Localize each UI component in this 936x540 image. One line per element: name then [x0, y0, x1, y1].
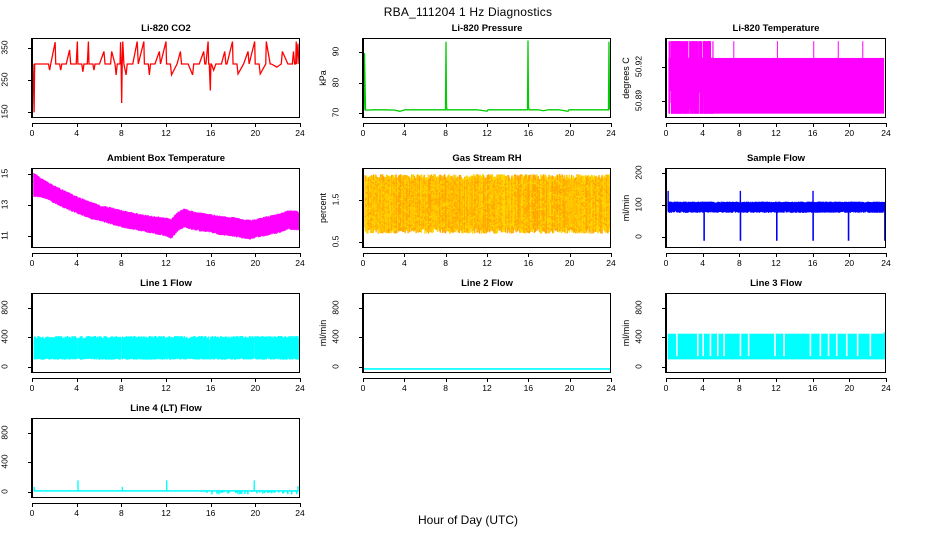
- plot-area: [363, 168, 611, 248]
- y-tick: [359, 200, 363, 201]
- x-tick-label: 0: [20, 258, 44, 268]
- x-tick-label: 12: [154, 383, 178, 393]
- x-tick: [32, 123, 33, 127]
- y-tick-label: 50.92: [635, 49, 644, 83]
- x-tick: [886, 378, 887, 382]
- x-tick: [77, 253, 78, 257]
- panel-title: Li-820 Pressure: [363, 23, 611, 35]
- x-tick: [813, 253, 814, 257]
- x-tick: [77, 123, 78, 127]
- x-tick-label: 16: [199, 258, 223, 268]
- figure-title: RBA_111204 1 Hz Diagnostics: [0, 4, 936, 20]
- y-axis: 50.8950.92: [654, 38, 666, 118]
- x-tick-label: 16: [801, 258, 825, 268]
- plot-area: [666, 38, 886, 118]
- series-layer: [33, 39, 299, 117]
- plot-area: [32, 38, 300, 118]
- x-tick-label: 8: [109, 258, 133, 268]
- y-axis: 0400800: [654, 293, 666, 373]
- y-axis-label: ml/min: [621, 153, 631, 263]
- plot-area: [363, 293, 611, 373]
- x-tick-label: 24: [288, 383, 312, 393]
- plot-area: [32, 168, 300, 248]
- y-axis-label: ml/min: [318, 278, 328, 388]
- y-tick-label: 0: [332, 350, 341, 384]
- x-tick: [166, 123, 167, 127]
- x-tick: [776, 253, 777, 257]
- panel-1: Li-820 CO2150250350Licor ppm04812162024: [0, 22, 306, 136]
- x-tick: [487, 253, 488, 257]
- x-tick-label: 24: [874, 128, 898, 138]
- plot-area: [32, 418, 300, 498]
- y-tick: [359, 242, 363, 243]
- x-tick-label: 16: [199, 383, 223, 393]
- y-tick-label: 50.89: [635, 83, 644, 117]
- x-tick: [703, 378, 704, 382]
- x-tick: [570, 123, 571, 127]
- y-tick: [28, 48, 32, 49]
- x-tick-label: 8: [109, 128, 133, 138]
- panel-title: Line 4 (LT) Flow: [32, 403, 300, 415]
- x-tick-label: 8: [727, 258, 751, 268]
- x-tick: [813, 123, 814, 127]
- x-tick: [404, 253, 405, 257]
- x-tick-label: 24: [288, 508, 312, 518]
- y-axis: 150250350: [20, 38, 32, 118]
- y-tick: [662, 205, 666, 206]
- x-tick: [849, 378, 850, 382]
- y-tick: [359, 308, 363, 309]
- plot-area: [363, 38, 611, 118]
- y-tick-label: 15: [1, 157, 10, 191]
- x-tick: [121, 503, 122, 507]
- y-tick-label: 400: [635, 320, 644, 354]
- series-layer: [667, 39, 885, 117]
- x-tick-label: 20: [243, 258, 267, 268]
- y-tick-label: 400: [332, 320, 341, 354]
- y-axis: 708090: [351, 38, 363, 118]
- plot-area: [666, 293, 886, 373]
- x-tick-label: 4: [65, 128, 89, 138]
- x-tick: [300, 503, 301, 507]
- x-tick: [776, 378, 777, 382]
- x-tick-label: 12: [475, 258, 499, 268]
- x-tick: [166, 503, 167, 507]
- y-tick: [662, 308, 666, 309]
- x-tick: [570, 378, 571, 382]
- x-tick: [611, 378, 612, 382]
- x-tick: [849, 253, 850, 257]
- y-axis: 111315: [20, 168, 32, 248]
- y-tick-label: 0: [635, 219, 644, 253]
- y-tick: [28, 174, 32, 175]
- x-tick: [739, 253, 740, 257]
- x-tick-label: 20: [837, 128, 861, 138]
- x-tick-label: 12: [475, 128, 499, 138]
- y-tick: [662, 173, 666, 174]
- panel-8: Line 2 Flow0400800ml/min04812162024: [317, 277, 617, 391]
- y-tick-label: 80: [332, 65, 341, 99]
- x-tick-label: 20: [558, 258, 582, 268]
- series-layer: [364, 39, 610, 117]
- y-tick-label: 1.5: [332, 182, 341, 216]
- x-tick: [611, 123, 612, 127]
- y-axis: 0100200: [654, 168, 666, 248]
- x-tick-label: 12: [764, 383, 788, 393]
- x-tick: [363, 253, 364, 257]
- x-tick-label: 16: [801, 383, 825, 393]
- x-tick-label: 0: [351, 383, 375, 393]
- x-tick-label: 16: [516, 258, 540, 268]
- diagnostics-figure: RBA_111204 1 Hz Diagnostics Hour of Day …: [0, 0, 936, 540]
- x-tick: [363, 123, 364, 127]
- x-tick: [32, 503, 33, 507]
- y-tick: [359, 83, 363, 84]
- x-tick-label: 8: [434, 258, 458, 268]
- x-tick-label: 20: [243, 383, 267, 393]
- y-axis-label: kPa: [318, 23, 328, 133]
- x-tick: [666, 378, 667, 382]
- y-axis: 0.51.5: [351, 168, 363, 248]
- x-tick-label: 24: [288, 128, 312, 138]
- x-tick-label: 12: [764, 258, 788, 268]
- x-tick-label: 4: [65, 508, 89, 518]
- x-tick: [611, 253, 612, 257]
- x-tick-label: 4: [392, 383, 416, 393]
- x-tick-label: 8: [727, 383, 751, 393]
- x-tick: [528, 123, 529, 127]
- y-tick-label: 200: [635, 155, 644, 189]
- panel-5: Gas Stream RH0.51.5percent04812162024: [317, 152, 617, 266]
- panel-title: Ambient Box Temperature: [32, 153, 300, 165]
- y-tick-label: 250: [1, 62, 10, 96]
- x-tick: [404, 123, 405, 127]
- y-tick: [359, 113, 363, 114]
- y-tick: [28, 462, 32, 463]
- x-tick-label: 16: [199, 128, 223, 138]
- y-tick: [662, 337, 666, 338]
- y-tick: [28, 112, 32, 113]
- panel-4: Ambient Box Temperature111315degrees C04…: [0, 152, 306, 266]
- panel-3: Li-820 Temperature50.8950.92degrees C048…: [620, 22, 892, 136]
- y-tick-label: 70: [332, 96, 341, 130]
- x-tick-label: 4: [392, 258, 416, 268]
- x-tick: [211, 123, 212, 127]
- y-axis: 0400800: [351, 293, 363, 373]
- x-tick-label: 20: [243, 508, 267, 518]
- x-tick-label: 0: [20, 128, 44, 138]
- x-tick-label: 8: [727, 128, 751, 138]
- y-tick-label: 800: [635, 290, 644, 324]
- y-tick: [28, 367, 32, 368]
- x-tick: [446, 378, 447, 382]
- x-tick: [255, 253, 256, 257]
- x-tick-label: 0: [20, 508, 44, 518]
- x-tick-label: 16: [516, 383, 540, 393]
- y-tick: [28, 236, 32, 237]
- panel-6: Sample Flow0100200ml/min04812162024: [620, 152, 892, 266]
- panel-title: Gas Stream RH: [363, 153, 611, 165]
- x-tick: [528, 253, 529, 257]
- y-tick: [359, 52, 363, 53]
- y-tick-label: 400: [1, 320, 10, 354]
- y-tick: [28, 308, 32, 309]
- y-tick-label: 0: [635, 350, 644, 384]
- y-tick: [359, 337, 363, 338]
- x-tick: [528, 378, 529, 382]
- panel-title: Line 3 Flow: [666, 278, 886, 290]
- x-tick-label: 4: [691, 128, 715, 138]
- x-tick-label: 12: [154, 128, 178, 138]
- x-tick-label: 4: [65, 258, 89, 268]
- x-tick: [446, 253, 447, 257]
- x-tick-label: 20: [558, 383, 582, 393]
- y-tick-label: 90: [332, 34, 341, 68]
- y-tick-label: 11: [1, 218, 10, 252]
- x-tick: [166, 253, 167, 257]
- y-tick: [28, 337, 32, 338]
- x-tick: [255, 123, 256, 127]
- series-layer: [33, 294, 299, 372]
- x-tick-label: 4: [691, 383, 715, 393]
- x-tick-label: 12: [475, 383, 499, 393]
- x-tick: [77, 503, 78, 507]
- x-tick-label: 0: [654, 383, 678, 393]
- x-tick-label: 4: [691, 258, 715, 268]
- x-tick: [363, 378, 364, 382]
- x-tick-label: 0: [20, 383, 44, 393]
- x-tick: [77, 378, 78, 382]
- x-tick: [255, 503, 256, 507]
- x-tick-label: 24: [874, 383, 898, 393]
- y-tick: [662, 67, 666, 68]
- y-tick: [662, 101, 666, 102]
- x-tick: [570, 253, 571, 257]
- y-tick-label: 800: [1, 290, 10, 324]
- x-tick: [666, 123, 667, 127]
- panel-7: Line 1 Flow0400800ml/min04812162024: [0, 277, 306, 391]
- panel-title: Sample Flow: [666, 153, 886, 165]
- x-tick-label: 24: [288, 258, 312, 268]
- x-tick: [739, 123, 740, 127]
- y-tick: [662, 367, 666, 368]
- y-tick-label: 400: [1, 445, 10, 479]
- x-tick: [121, 253, 122, 257]
- x-tick-label: 20: [837, 258, 861, 268]
- x-tick: [739, 378, 740, 382]
- x-tick: [487, 123, 488, 127]
- x-tick: [300, 123, 301, 127]
- y-tick-label: 13: [1, 187, 10, 221]
- x-tick-label: 16: [516, 128, 540, 138]
- x-tick-label: 20: [243, 128, 267, 138]
- x-tick-label: 8: [434, 128, 458, 138]
- y-tick-label: 800: [332, 290, 341, 324]
- panel-10: Line 4 (LT) Flow0400800ml/min04812162024: [0, 402, 306, 516]
- x-tick: [121, 378, 122, 382]
- x-tick: [446, 123, 447, 127]
- y-tick: [359, 367, 363, 368]
- series-layer: [33, 419, 299, 497]
- x-tick-label: 0: [654, 258, 678, 268]
- x-tick: [32, 378, 33, 382]
- x-tick-label: 8: [109, 508, 133, 518]
- x-tick: [404, 378, 405, 382]
- x-tick-label: 20: [837, 383, 861, 393]
- y-tick: [28, 205, 32, 206]
- y-axis-label: ml/min: [621, 278, 631, 388]
- panel-title: Line 1 Flow: [32, 278, 300, 290]
- y-axis: 0400800: [20, 293, 32, 373]
- series-layer: [667, 294, 885, 372]
- panel-title: Li-820 Temperature: [666, 23, 886, 35]
- panel-title: Li-820 CO2: [32, 23, 300, 35]
- y-tick-label: 0: [1, 350, 10, 384]
- y-tick-label: 0: [1, 475, 10, 509]
- x-tick: [211, 253, 212, 257]
- x-tick-label: 8: [109, 383, 133, 393]
- x-tick: [32, 253, 33, 257]
- y-axis-label: percent: [318, 153, 328, 263]
- panel-9: Line 3 Flow0400800ml/min04812162024: [620, 277, 892, 391]
- x-tick-label: 0: [351, 258, 375, 268]
- panel-title: Line 2 Flow: [363, 278, 611, 290]
- x-tick-label: 0: [654, 128, 678, 138]
- x-tick-label: 4: [392, 128, 416, 138]
- x-tick: [666, 253, 667, 257]
- y-tick: [28, 80, 32, 81]
- x-tick: [166, 378, 167, 382]
- x-tick-label: 16: [199, 508, 223, 518]
- x-tick: [487, 378, 488, 382]
- x-tick-label: 8: [434, 383, 458, 393]
- x-tick: [121, 123, 122, 127]
- y-tick: [662, 237, 666, 238]
- x-tick: [300, 378, 301, 382]
- series-layer: [364, 294, 610, 372]
- x-tick-label: 12: [154, 258, 178, 268]
- x-tick-label: 20: [558, 128, 582, 138]
- x-tick-label: 4: [65, 383, 89, 393]
- x-tick: [703, 123, 704, 127]
- x-tick: [886, 253, 887, 257]
- x-tick-label: 24: [874, 258, 898, 268]
- panel-2: Li-820 Pressure708090kPa04812162024: [317, 22, 617, 136]
- x-tick: [211, 378, 212, 382]
- y-tick-label: 350: [1, 30, 10, 64]
- x-tick: [255, 378, 256, 382]
- plot-area: [32, 293, 300, 373]
- y-tick: [28, 492, 32, 493]
- y-axis: 0400800: [20, 418, 32, 498]
- x-tick: [211, 503, 212, 507]
- series-layer: [33, 169, 299, 247]
- x-tick: [300, 253, 301, 257]
- x-tick: [849, 123, 850, 127]
- y-axis-label: degrees C: [621, 23, 631, 133]
- x-tick: [703, 253, 704, 257]
- series-layer: [364, 169, 610, 247]
- y-tick-label: 100: [635, 187, 644, 221]
- x-tick-label: 16: [801, 128, 825, 138]
- x-tick-label: 12: [154, 508, 178, 518]
- x-tick: [886, 123, 887, 127]
- plot-area: [666, 168, 886, 248]
- x-tick-label: 0: [351, 128, 375, 138]
- y-tick-label: 150: [1, 94, 10, 128]
- x-tick-label: 12: [764, 128, 788, 138]
- x-tick: [776, 123, 777, 127]
- y-tick-label: 800: [1, 415, 10, 449]
- y-tick-label: 0.5: [332, 224, 341, 258]
- series-layer: [667, 169, 885, 247]
- x-tick: [813, 378, 814, 382]
- y-tick: [28, 433, 32, 434]
